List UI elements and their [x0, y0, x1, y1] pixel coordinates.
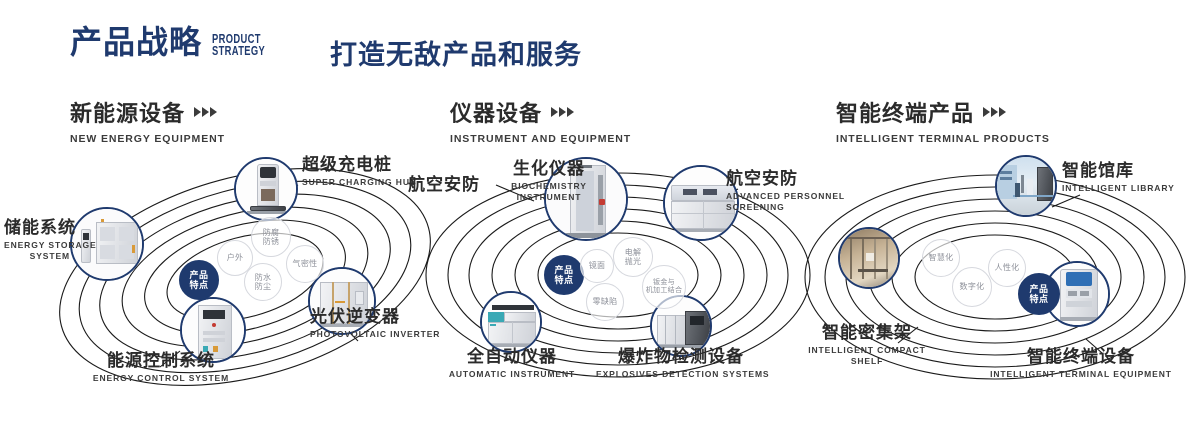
feature-line1: 户外 [227, 253, 244, 262]
chevron-right-icon [983, 107, 1006, 117]
label-en-line1: INTELLIGENT COMPACT [782, 345, 952, 356]
label-automatic-instrument: 全自动仪器 AUTOMATIC INSTRUMENT [428, 347, 596, 380]
title-en: PRODUCT STRATEGY [212, 33, 265, 57]
node-super-charging-hub[interactable] [234, 157, 298, 221]
label-cn: 航空安防 [408, 175, 480, 195]
node-intelligent-library[interactable] [995, 155, 1057, 217]
core-line1: 产品 [554, 265, 573, 275]
label-cn: 全自动仪器 [428, 347, 596, 367]
section-en-1: INSTRUMENT AND EQUIPMENT [450, 133, 631, 145]
label-en: INTELLIGENT LIBRARY [1062, 183, 1175, 194]
feature-line1: 防腐 [263, 228, 280, 237]
label-aviation-security-left: 航空安防 [408, 175, 480, 195]
page-subtitle: 打造无敌产品和服务 [330, 33, 582, 72]
label-en: ENERGY CONTROL SYSTEM [76, 373, 246, 384]
label-cn: 智能馆库 [1062, 161, 1175, 181]
node-automatic-instrument[interactable] [480, 291, 542, 353]
label-explosives-detection-systems: 爆炸物检测设备 EXPLOSIVES DETECTION SYSTEMS [596, 347, 766, 380]
product-strategy-infographic: 产品战略 PRODUCT STRATEGY 打造无敌产品和服务 新能源设备 NE… [0, 0, 1200, 422]
feature-line1: 防水 [255, 273, 272, 282]
cluster-new-energy: 储能系统 ENERGY STORAGE SYSTEM 超级充电桩 SUPER C… [40, 155, 460, 405]
feature-line1: 人性化 [995, 263, 1020, 272]
label-super-charging-hub: 超级充电桩 SUPER CHARGING HUB [302, 155, 417, 188]
core-line2: 特点 [189, 280, 208, 290]
label-cn: 智能密集架 [782, 323, 952, 343]
label-en: SUPER CHARGING HUB [302, 177, 417, 188]
feature-bubble-sheet-metal-machining: 钣金与 机加工结合 [642, 265, 686, 309]
core-line2: 特点 [554, 275, 573, 285]
feature-line1: 镜面 [589, 261, 606, 270]
feature-line1: 电解 [625, 248, 642, 257]
node-intelligent-compact-shelf[interactable] [838, 227, 900, 289]
label-cn: 爆炸物检测设备 [596, 347, 766, 367]
section-en-2: INTELLIGENT TERMINAL PRODUCTS [836, 133, 1050, 145]
label-en-line2: SHELF [782, 356, 952, 367]
feature-bubble-waterproof: 防水 防尘 [244, 263, 282, 301]
feature-bubble-mirror-finish: 镜面 [580, 249, 614, 283]
feature-line1: 零缺陷 [593, 297, 618, 306]
chevron-right-icon [194, 107, 217, 117]
page-title: 产品战略 PRODUCT STRATEGY [70, 26, 286, 58]
feature-bubble-intelligence: 智慧化 [922, 239, 960, 277]
feature-core-product-traits: 产品 特点 [1018, 273, 1060, 315]
feature-line1: 钣金与 [653, 279, 675, 286]
feature-line1: 数字化 [960, 282, 985, 291]
core-line1: 产品 [189, 270, 208, 280]
feature-line1: 智慧化 [929, 253, 954, 262]
feature-bubble-zero-defect: 零缺陷 [586, 283, 624, 321]
title-cn: 产品战略 [70, 26, 202, 58]
label-cn: 储能系统 [4, 218, 70, 238]
feature-line2: 防锈 [263, 237, 280, 246]
label-energy-control-system: 能源控制系统 ENERGY CONTROL SYSTEM [76, 351, 246, 384]
feature-line2: 抛光 [625, 257, 642, 266]
title-en-line2: STRATEGY [212, 45, 265, 57]
label-en-line1: BIOCHEMISTRY [494, 181, 604, 192]
section-cn-1: 仪器设备 [450, 96, 542, 128]
core-line2: 特点 [1029, 294, 1048, 304]
label-cn: 能源控制系统 [76, 351, 246, 371]
feature-line1: 气密性 [293, 259, 318, 268]
label-cn: 智能终端设备 [986, 347, 1176, 367]
feature-bubble-airtightness: 气密性 [286, 245, 324, 283]
section-title-new-energy: 新能源设备 NEW ENERGY EQUIPMENT [70, 96, 225, 145]
section-title-intelligent-terminal: 智能终端产品 INTELLIGENT TERMINAL PRODUCTS [836, 96, 1050, 145]
feature-core-product-traits: 产品 特点 [544, 255, 584, 295]
feature-bubble-anticorrosion: 防腐 防锈 [251, 217, 291, 257]
label-energy-storage-system: 储能系统 ENERGY STORAGE SYSTEM [4, 218, 70, 262]
feature-line2: 防尘 [255, 282, 272, 291]
label-intelligent-library: 智能馆库 INTELLIGENT LIBRARY [1062, 161, 1175, 194]
label-intelligent-terminal-equipment: 智能终端设备 INTELLIGENT TERMINAL EQUIPMENT [986, 347, 1176, 380]
section-cn-0: 新能源设备 [70, 96, 185, 128]
feature-bubble-humanization: 人性化 [988, 249, 1026, 287]
label-en: INTELLIGENT TERMINAL EQUIPMENT [986, 369, 1176, 380]
core-line1: 产品 [1029, 284, 1048, 294]
label-cn: 超级充电桩 [302, 155, 417, 175]
cluster-intelligent-terminal: 智能馆库 INTELLIGENT LIBRARY 智能密集架 INTELLIGE… [790, 155, 1200, 405]
feature-core-product-traits: 产品 特点 [179, 260, 219, 300]
section-title-instrument: 仪器设备 INSTRUMENT AND EQUIPMENT [450, 96, 631, 145]
cluster-instrument: 生化仪器 BIOCHEMISTRY INSTRUMENT 航空安防 航空安防 A… [408, 155, 828, 405]
label-en-line1: ENERGY STORAGE [4, 240, 70, 251]
label-en: EXPLOSIVES DETECTION SYSTEMS [596, 369, 766, 380]
chevron-right-icon [551, 107, 574, 117]
feature-line2: 机加工结合 [646, 287, 683, 294]
section-en-0: NEW ENERGY EQUIPMENT [70, 133, 225, 145]
label-en: AUTOMATIC INSTRUMENT [428, 369, 596, 380]
label-cn: 生化仪器 [494, 159, 604, 179]
label-en-line2: SYSTEM [4, 251, 70, 262]
section-cn-2: 智能终端产品 [836, 96, 974, 128]
label-en-line2: INSTRUMENT [494, 192, 604, 203]
feature-bubble-digitalization: 数字化 [952, 267, 992, 307]
label-intelligent-compact-shelf: 智能密集架 INTELLIGENT COMPACT SHELF [782, 323, 952, 367]
label-biochemistry-instrument: 生化仪器 BIOCHEMISTRY INSTRUMENT [494, 159, 604, 203]
